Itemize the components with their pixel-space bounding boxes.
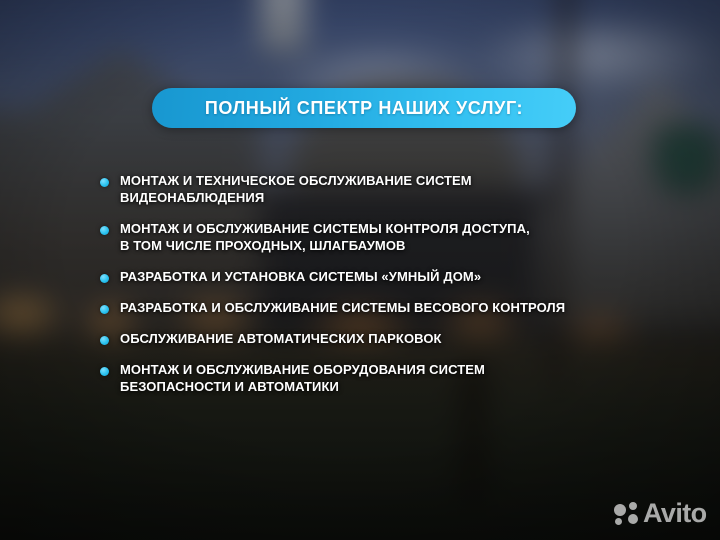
list-item: ОБСЛУЖИВАНИЕ АВТОМАТИЧЕСКИХ ПАРКОВОК bbox=[100, 330, 660, 347]
list-item: РАЗРАБОТКА И ОБСЛУЖИВАНИЕ СИСТЕМЫ ВЕСОВО… bbox=[100, 299, 660, 316]
bullet-icon bbox=[100, 226, 109, 235]
bullet-icon bbox=[100, 367, 109, 376]
title-banner: ПОЛНЫЙ СПЕКТР НАШИХ УСЛУГ: bbox=[152, 88, 576, 128]
bullet-icon bbox=[100, 274, 109, 283]
overlay-content: ПОЛНЫЙ СПЕКТР НАШИХ УСЛУГ: МОНТАЖ И ТЕХН… bbox=[0, 0, 720, 540]
list-item-label: МОНТАЖ И ОБСЛУЖИВАНИЕ СИСТЕМЫ КОНТРОЛЯ Д… bbox=[120, 220, 530, 254]
services-list: МОНТАЖ И ТЕХНИЧЕСКОЕ ОБСЛУЖИВАНИЕ СИСТЕМ… bbox=[100, 172, 660, 409]
list-item: МОНТАЖ И ТЕХНИЧЕСКОЕ ОБСЛУЖИВАНИЕ СИСТЕМ… bbox=[100, 172, 660, 206]
bullet-icon bbox=[100, 178, 109, 187]
avito-wordmark: Avito bbox=[643, 500, 707, 527]
bullet-icon bbox=[100, 305, 109, 314]
list-item-label: ОБСЛУЖИВАНИЕ АВТОМАТИЧЕСКИХ ПАРКОВОК bbox=[120, 330, 442, 347]
list-item-label: РАЗРАБОТКА И УСТАНОВКА СИСТЕМЫ «УМНЫЙ ДО… bbox=[120, 268, 481, 285]
list-item: МОНТАЖ И ОБСЛУЖИВАНИЕ СИСТЕМЫ КОНТРОЛЯ Д… bbox=[100, 220, 660, 254]
advertisement-image: ПОЛНЫЙ СПЕКТР НАШИХ УСЛУГ: МОНТАЖ И ТЕХН… bbox=[0, 0, 720, 540]
banner-title: ПОЛНЫЙ СПЕКТР НАШИХ УСЛУГ: bbox=[205, 98, 523, 119]
list-item: РАЗРАБОТКА И УСТАНОВКА СИСТЕМЫ «УМНЫЙ ДО… bbox=[100, 268, 660, 285]
bullet-icon bbox=[100, 336, 109, 345]
list-item-label: МОНТАЖ И ТЕХНИЧЕСКОЕ ОБСЛУЖИВАНИЕ СИСТЕМ… bbox=[120, 172, 472, 206]
list-item-label: МОНТАЖ И ОБСЛУЖИВАНИЕ ОБОРУДОВАНИЯ СИСТЕ… bbox=[120, 361, 485, 395]
list-item: МОНТАЖ И ОБСЛУЖИВАНИЕ ОБОРУДОВАНИЯ СИСТЕ… bbox=[100, 361, 660, 395]
list-item-label: РАЗРАБОТКА И ОБСЛУЖИВАНИЕ СИСТЕМЫ ВЕСОВО… bbox=[120, 299, 565, 316]
avito-logo-icon bbox=[614, 502, 639, 526]
avito-watermark: Avito bbox=[614, 500, 707, 527]
